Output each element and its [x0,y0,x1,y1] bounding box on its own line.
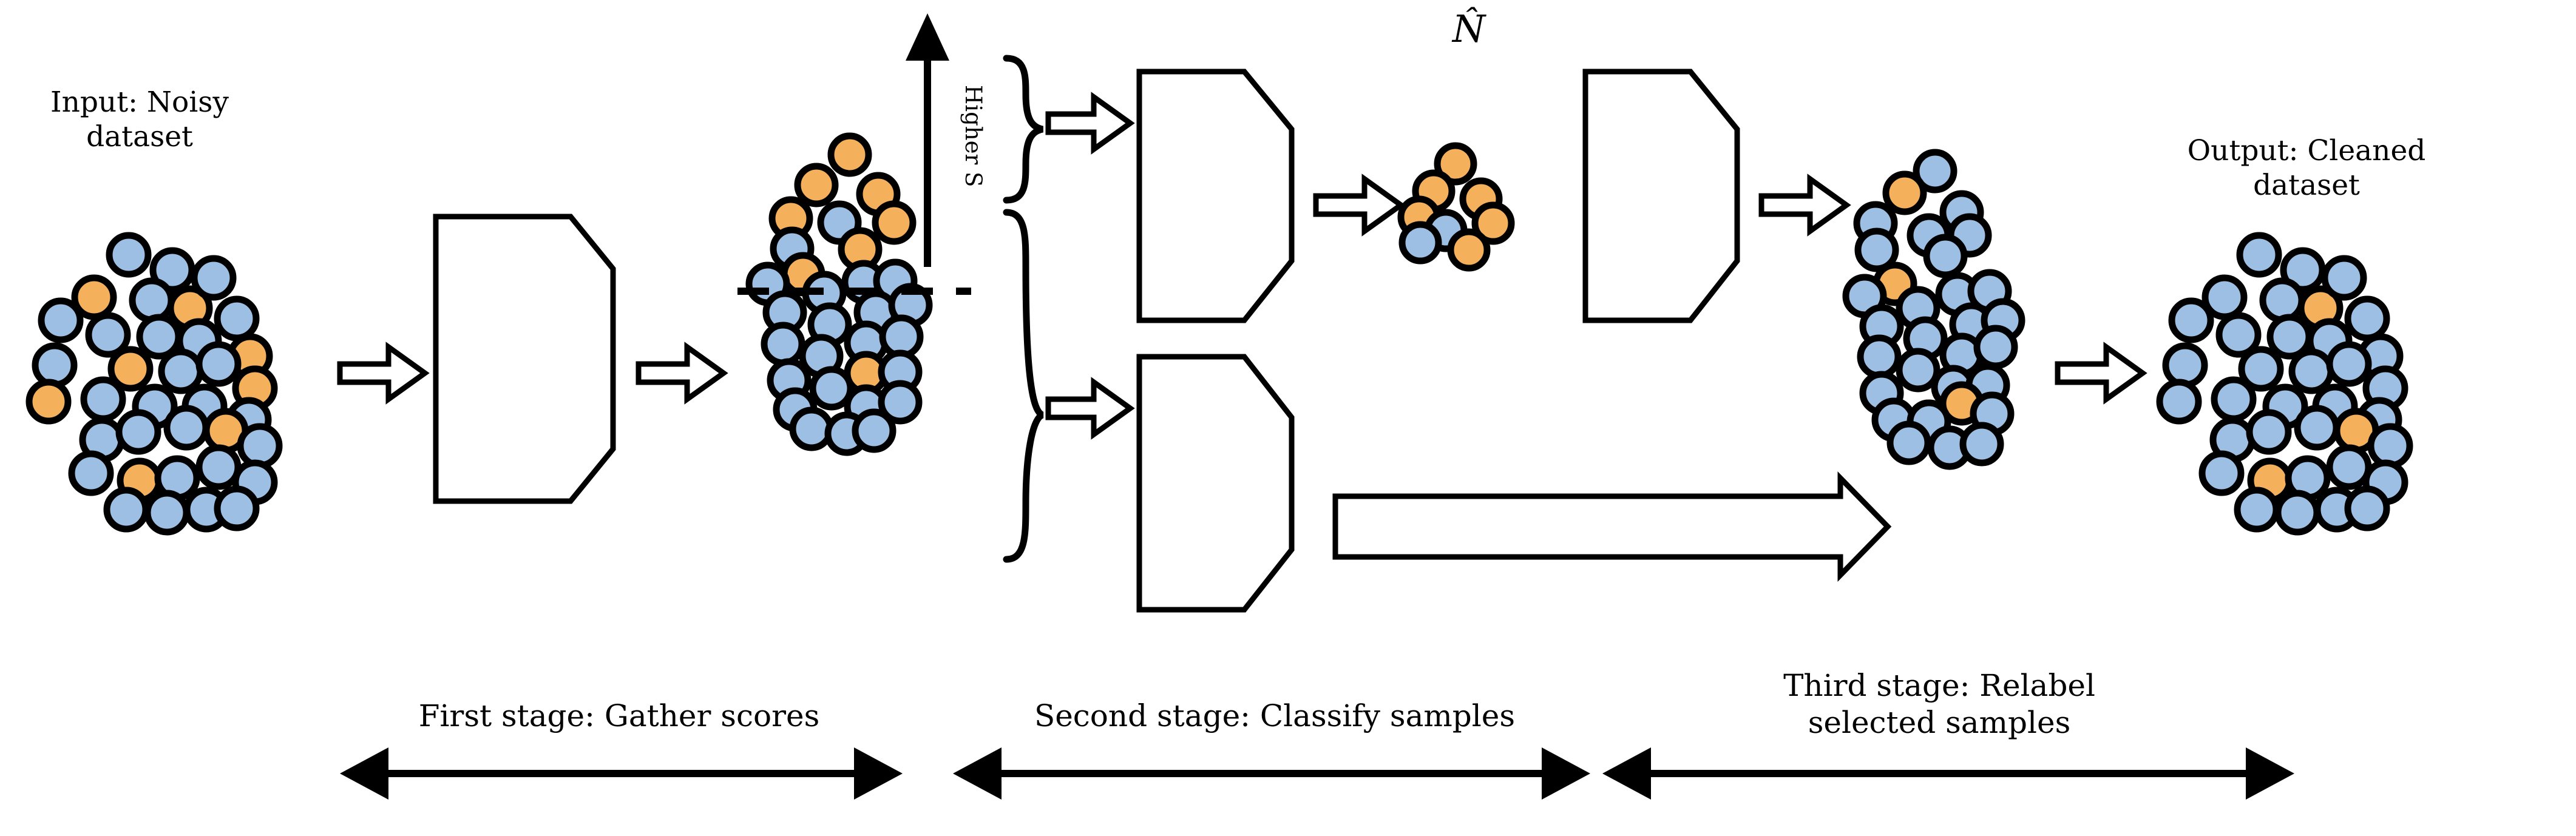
sample-dot-clean [217,489,256,528]
sample-dot-clean [107,490,146,529]
sample-dot-noisy [29,382,68,421]
arrow-relabel-to-cluster [1761,179,1846,231]
sample-dot-clean [2348,489,2387,528]
sample-dot-clean [1977,328,2015,366]
sample-dot-clean [764,325,802,363]
diagram-canvas: Input: Noisy dataset Output: Cleaned dat… [0,0,2576,836]
cluster-nhat-subset-dots [1401,146,1511,268]
sample-dot-clean [2292,352,2331,391]
third-stage-arrow [1602,747,2294,800]
sample-dot-clean [41,301,80,340]
sample-dot-clean [2214,380,2253,419]
sample-dot-clean [1860,338,1898,376]
sample-dot-noisy [831,136,869,174]
sample-dot-clean [1890,424,1928,462]
sample-dot-noisy [798,166,835,204]
cluster-output-dots [2160,235,2410,532]
cluster-relabeled-dots [1846,152,2022,467]
sample-dot-clean [147,493,186,532]
sample-dot-clean [2172,301,2211,340]
box-calculate-noise-scores [436,217,613,501]
sample-dot-clean [1927,237,1964,275]
brace-noisy-group [1006,58,1043,200]
sample-dot-noisy [1886,174,1924,212]
sample-dot-clean [217,299,256,338]
sample-dot-clean [161,352,200,391]
arrow-clean-bypass [1335,478,1888,575]
sample-dot-clean [2240,235,2279,274]
sample-dot-clean [1402,224,1439,261]
sample-dot-clean [72,454,110,493]
diagram-vectors [0,0,2576,836]
sample-dot-clean [2160,382,2198,421]
sample-dot-clean [1963,425,2001,463]
arrow-calculate-to-scored [639,347,724,399]
sample-dot-clean [240,426,279,465]
sample-dot-clean [2330,448,2368,487]
sample-dot-noisy [1451,232,1487,268]
arrow-relabeled-to-output [2058,347,2143,399]
sample-dot-clean [2330,345,2368,383]
second-stage-arrow [953,747,1590,800]
sample-dot-clean [2202,454,2241,493]
arrow-split-clean [1048,382,1130,434]
sample-dot-clean [109,235,148,274]
arrow-noisy-to-subset [1316,179,1401,231]
first-stage-arrow [340,747,903,800]
arrow-split-noisy [1048,97,1130,149]
sample-dot-clean [167,408,206,447]
sample-dot-clean [199,345,238,383]
sample-dot-clean [2278,493,2317,532]
sample-dot-clean [2348,299,2387,338]
sample-dot-clean [793,410,830,448]
sample-dot-clean [194,258,233,297]
sample-dot-clean [1899,351,1937,389]
sample-dot-clean [199,448,238,487]
sample-dot-clean [84,380,123,419]
box-classified-as-clean [1139,357,1292,610]
sample-dot-clean [855,412,893,450]
sample-dot-clean [2371,426,2410,465]
box-classified-as-noisy [1139,72,1292,320]
sample-dot-noisy [875,204,913,241]
sample-dot-clean [35,346,74,385]
cluster-input-dots [29,235,279,532]
sample-dot-clean [2249,413,2288,451]
sample-dot-clean [2166,346,2205,385]
sample-dot-clean [2297,408,2336,447]
sample-dot-clean [119,413,158,451]
box-relabeling [1585,72,1737,320]
sample-dot-clean [2325,258,2364,297]
arrow-input-to-calculate [340,347,425,399]
brace-clean-group [1006,212,1043,559]
sample-dot-clean [132,281,171,320]
sample-dot-clean [2263,281,2302,320]
sample-dot-clean [2237,490,2276,529]
